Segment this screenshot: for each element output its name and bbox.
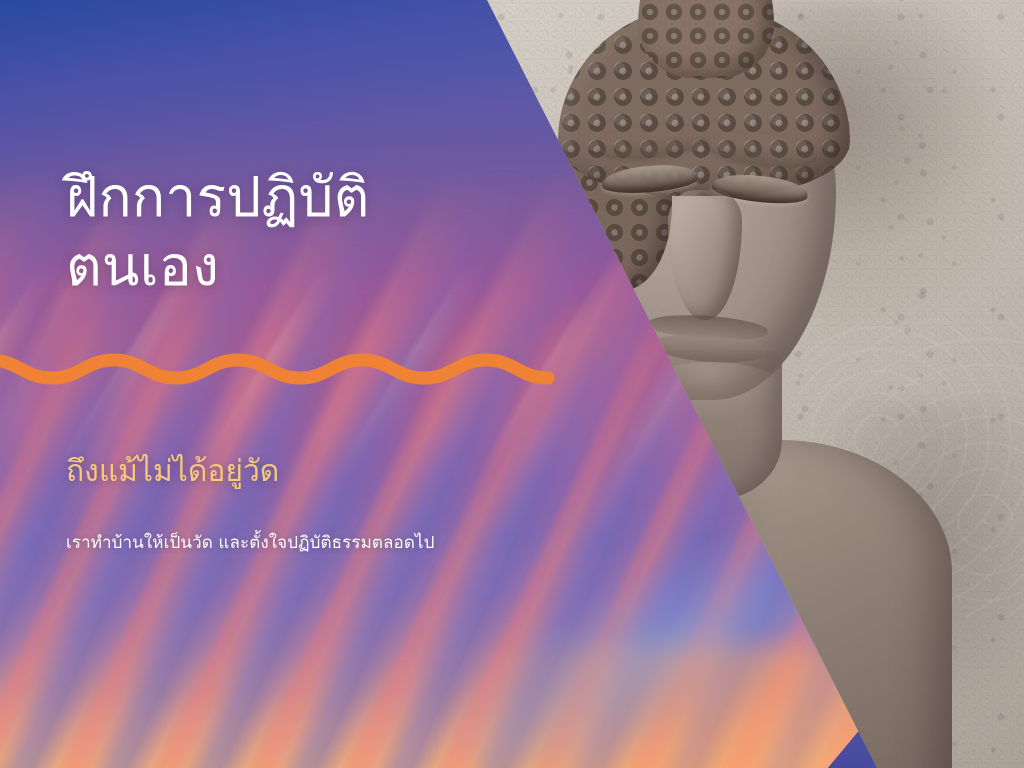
slide-headline: ฝึกการปฏิบัติ ตนเอง	[66, 163, 496, 301]
slide-text-content: ฝึกการปฏิบัติ ตนเอง ถึงแม้ไม่ได้อยู่วัด …	[66, 0, 536, 768]
presentation-slide: ฝึกการปฏิบัติ ตนเอง ถึงแม้ไม่ได้อยู่วัด …	[0, 0, 1024, 768]
wavy-line-divider	[0, 344, 570, 390]
slide-subheadline: ถึงแม้ไม่ได้อยู่วัด	[66, 452, 279, 491]
slide-body-text: เราทำบ้านให้เป็นวัด และตั้งใจปฏิบัติธรรม…	[66, 531, 435, 556]
